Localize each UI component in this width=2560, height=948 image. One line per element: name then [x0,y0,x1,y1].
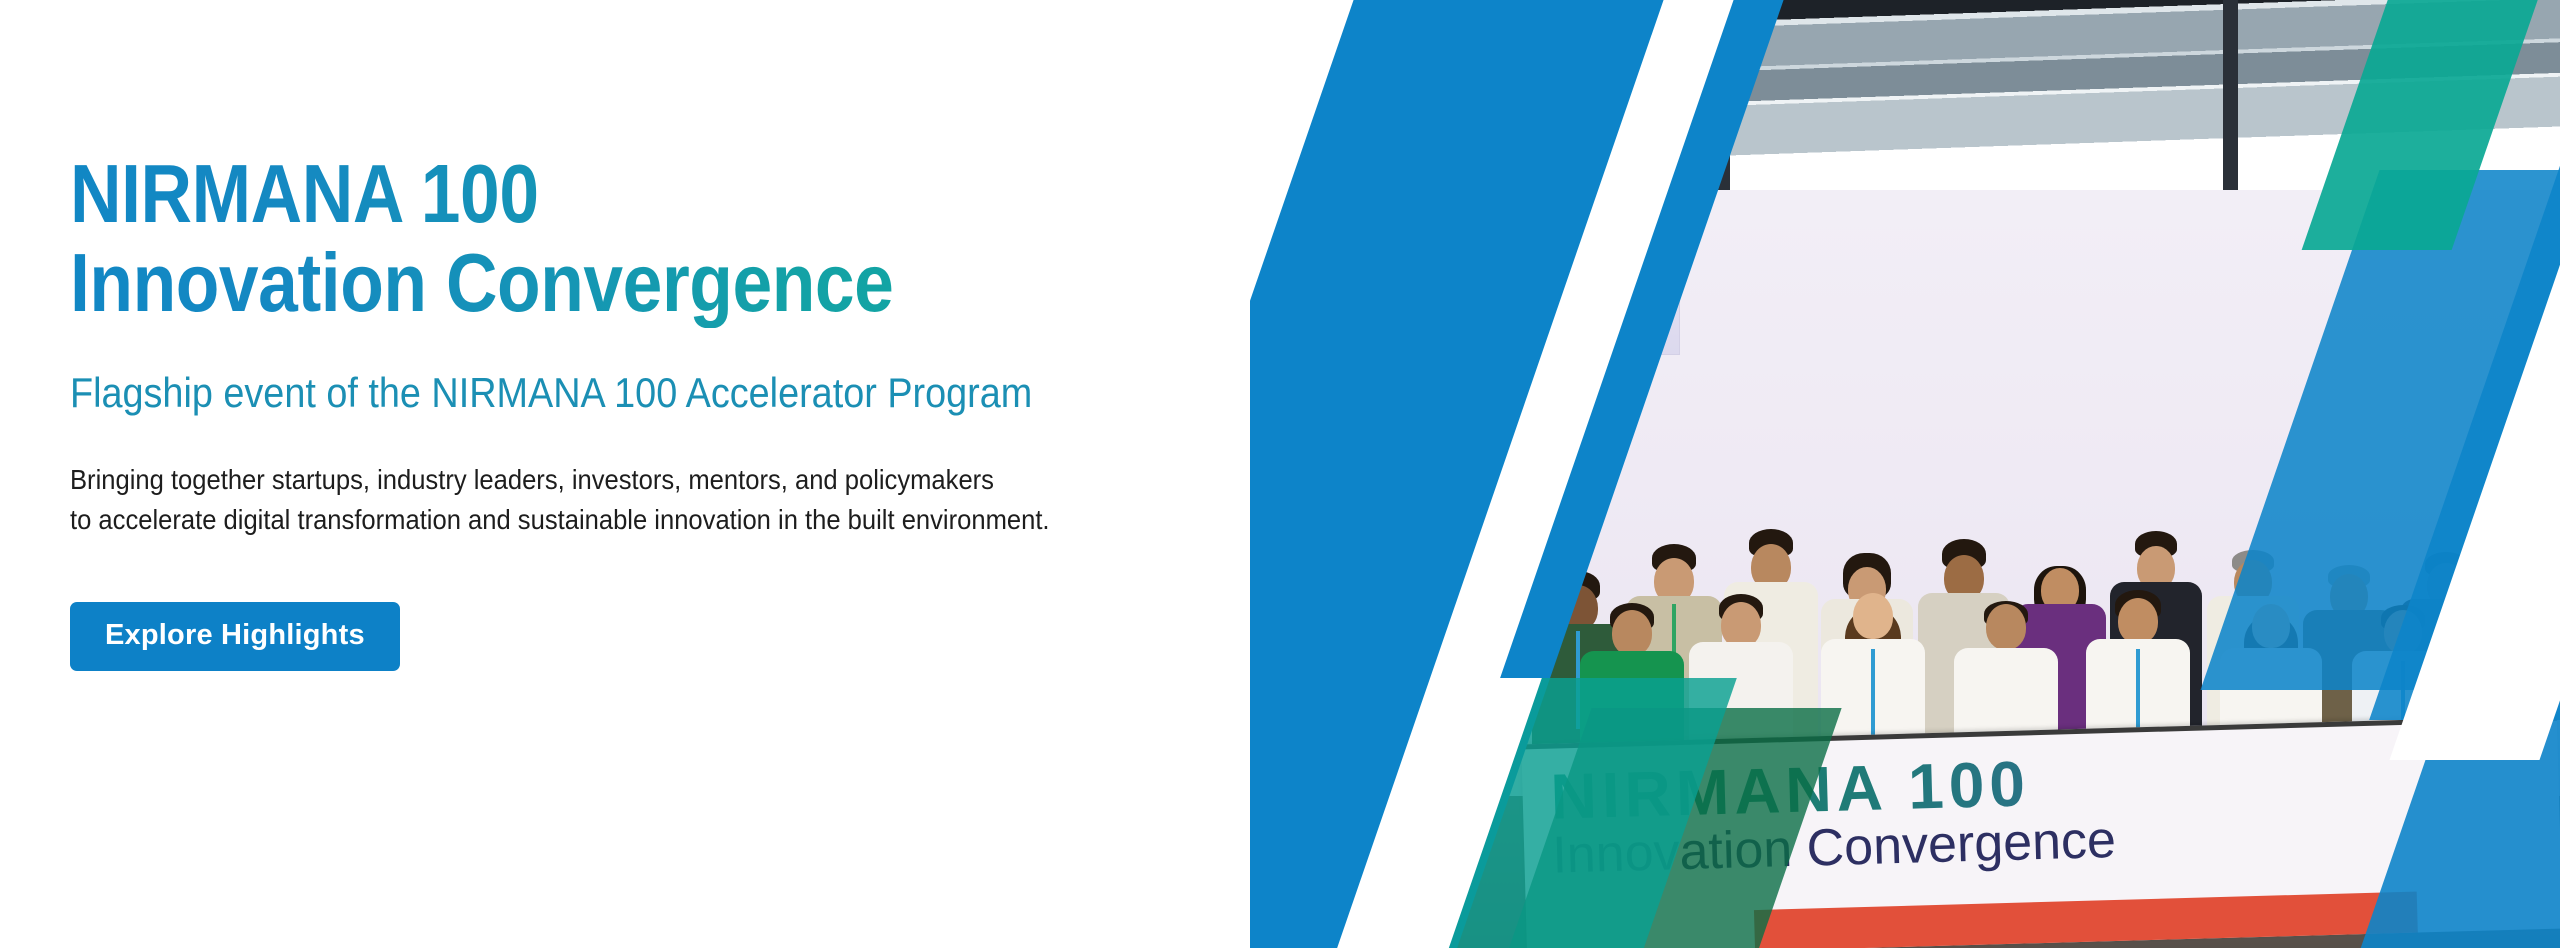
page-title: NIRMANA 100 Innovation Convergence [70,150,1085,328]
hero-section: NIRMANA 100 Innovation Convergence Flags… [0,0,2560,948]
hero-description-line-1: Bringing together startups, industry lea… [70,460,1167,500]
hero-description: Bringing together startups, industry lea… [70,460,1167,540]
hero-subheading: Flagship event of the NIRMANA 100 Accele… [70,368,1132,418]
hero-artwork: SoftTech AmpliNxt Ecosytem Enabler ANCRE… [1250,0,2560,948]
headline-line-2: Innovation Convergence [70,239,1085,328]
hero-copy-block: NIRMANA 100 Innovation Convergence Flags… [70,150,1250,671]
headline-line-1: NIRMANA 100 [70,150,1085,239]
hero-description-line-2: to accelerate digital transformation and… [70,500,1167,540]
explore-highlights-button[interactable]: Explore Highlights [70,602,400,671]
